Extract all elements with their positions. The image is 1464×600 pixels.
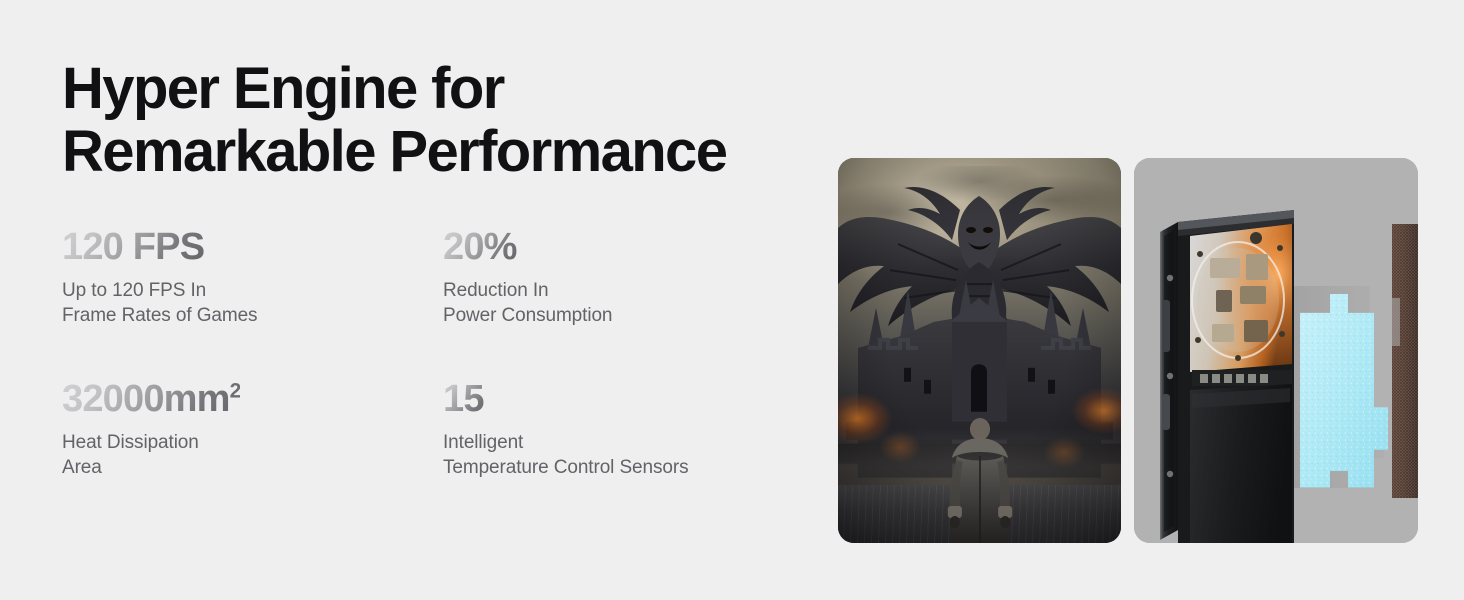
- stat-description: Up to 120 FPS In Frame Rates of Games: [62, 278, 443, 329]
- stat-value-base: 32000mm: [62, 378, 230, 420]
- stat-item-power: 20% Reduction In Power Consumption: [443, 228, 824, 380]
- page-title: Hyper Engine for Remarkable Performance: [62, 58, 802, 183]
- game-scene: [838, 158, 1121, 543]
- stat-description: Intelligent Temperature Control Sensors: [443, 430, 824, 481]
- phone-exploded-view: [1134, 158, 1418, 543]
- stat-value: 20%: [443, 228, 517, 266]
- stat-value-superscript: 2: [230, 379, 241, 402]
- stat-description: Reduction In Power Consumption: [443, 278, 824, 329]
- game-vignette: [838, 158, 1121, 543]
- stat-value: 15: [443, 380, 484, 418]
- stat-description: Heat Dissipation Area: [62, 430, 443, 481]
- stat-value: 120 FPS: [62, 228, 204, 266]
- stats-grid: 120 FPS Up to 120 FPS In Frame Rates of …: [62, 228, 822, 481]
- stat-value: 32000mm2: [62, 380, 240, 418]
- promo-banner: Hyper Engine for Remarkable Performance …: [0, 0, 1464, 600]
- game-artwork-panel: [838, 158, 1121, 543]
- phone-cooling-panel: [1134, 158, 1418, 543]
- stat-item-fps: 120 FPS Up to 120 FPS In Frame Rates of …: [62, 228, 443, 380]
- stat-item-sensors: 15 Intelligent Temperature Control Senso…: [443, 380, 824, 481]
- stat-item-heat-area: 32000mm2 Heat Dissipation Area: [62, 380, 443, 481]
